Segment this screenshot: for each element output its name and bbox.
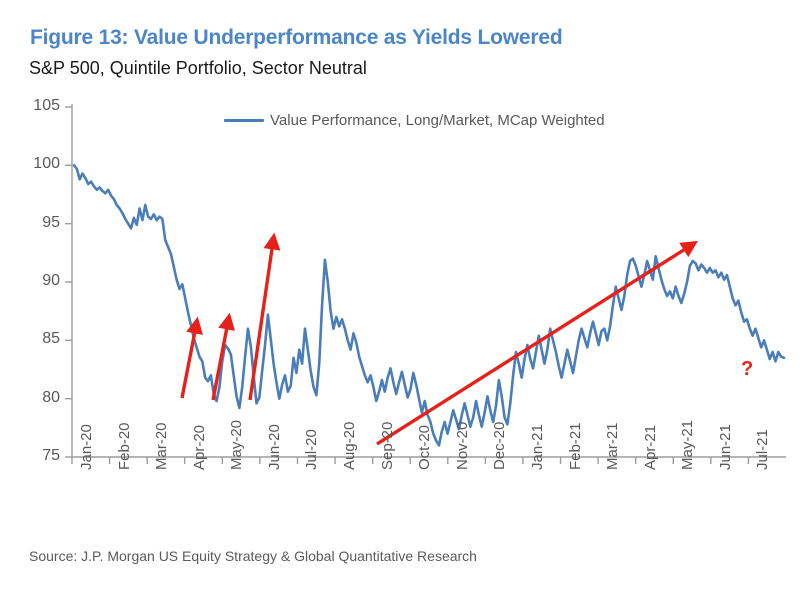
x-axis-tick-label: Apr-20 bbox=[191, 425, 208, 470]
x-axis-tick-label: May-21 bbox=[679, 420, 696, 470]
y-axis-tick-label: 105 bbox=[26, 97, 60, 115]
x-axis-tick-label: Mar-20 bbox=[153, 422, 170, 470]
question-mark-annotation: ? bbox=[741, 358, 753, 381]
up-arrow-apr-2020 bbox=[182, 326, 196, 398]
x-axis-tick-label: Jan-21 bbox=[529, 424, 546, 470]
y-axis-tick-label: 75 bbox=[26, 447, 60, 465]
x-axis-tick-label: May-20 bbox=[228, 420, 245, 470]
x-axis-tick-label: Jan-20 bbox=[78, 424, 95, 470]
x-axis-tick-label: Aug-20 bbox=[341, 422, 358, 470]
chart-plot-area bbox=[0, 0, 800, 603]
y-axis-tick-label: 85 bbox=[26, 330, 60, 348]
y-axis-tick-label: 90 bbox=[26, 272, 60, 290]
chart-annotations bbox=[182, 242, 690, 444]
x-axis-tick-label: Dec-20 bbox=[491, 422, 508, 470]
chart-axes bbox=[72, 104, 786, 457]
figure-container: Figure 13: Value Underperformance as Yie… bbox=[0, 0, 800, 603]
series-line-value-performance bbox=[74, 165, 784, 445]
source-note: Source: J.P. Morgan US Equity Strategy &… bbox=[29, 548, 477, 564]
x-axis-tick-label: Jul-21 bbox=[754, 429, 771, 470]
x-axis-tick-label: Jun-20 bbox=[266, 424, 283, 470]
y-axis-tick-label: 100 bbox=[26, 155, 60, 173]
x-axis-tick-label: Mar-21 bbox=[604, 422, 621, 470]
up-arrow-may-2020 bbox=[213, 322, 228, 400]
x-axis-tick-label: Feb-20 bbox=[116, 422, 133, 470]
x-axis-tick-label: Feb-21 bbox=[567, 422, 584, 470]
y-axis-ticks bbox=[65, 107, 72, 457]
x-axis-tick-label: Jul-20 bbox=[303, 429, 320, 470]
x-axis-tick-label: Apr-21 bbox=[642, 425, 659, 470]
uptrend-arrow-sep-2020-to-may-2021 bbox=[377, 246, 690, 444]
y-axis-tick-label: 95 bbox=[26, 214, 60, 232]
y-axis-tick-label: 80 bbox=[26, 389, 60, 407]
x-axis-tick-label: Nov-20 bbox=[454, 422, 471, 470]
x-axis-tick-label: Oct-20 bbox=[416, 425, 433, 470]
x-axis-tick-label: Sep-20 bbox=[379, 422, 396, 470]
x-axis-tick-label: Jun-21 bbox=[717, 424, 734, 470]
